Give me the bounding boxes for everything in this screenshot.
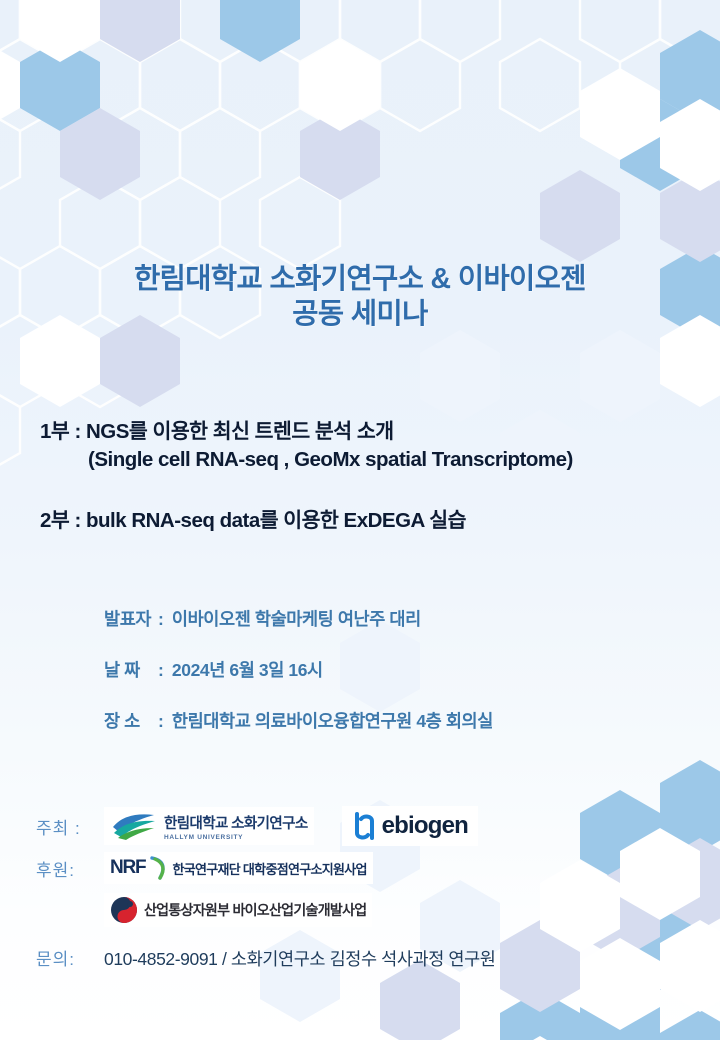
nrf-logo: NRF 한국연구재단 대학중점연구소지원사업 [104,852,373,884]
detail-row-presenter: 발표자: 이바이오젠 학술마케팅 여난주 대리 [104,606,493,631]
seminar-poster: 한림대학교 소화기연구소 & 이바이오젠 공동 세미나 1부 : NGS를 이용… [0,0,720,1040]
contact-label: 문의: [36,945,104,970]
ebiogen-wordmark: ebiogen [382,812,468,840]
host-label: 주최 : [36,814,104,839]
detail-sep-venue: : [158,711,167,731]
program-item-1-title: 1부 : NGS를 이용한 최신 트렌드 분석 소개 [40,418,712,446]
ebiogen-mark-icon [352,811,378,841]
hallym-text-block: 한림대학교 소화기연구소 HALLYM UNIVERSITY [164,812,308,841]
hallym-university-logo: 한림대학교 소화기연구소 HALLYM UNIVERSITY [104,807,314,845]
credits-block: 주최 : 한림대학교 소화기연구소 HALLYM UNIVERSITY [36,805,696,971]
program-item-2-title: 2부 : bulk RNA-seq data를 이용한 ExDEGA 실습 [40,507,712,535]
motie-program-name: 산업통상자원부 바이오산업기술개발사업 [144,900,366,920]
host-row: 주최 : 한림대학교 소화기연구소 HALLYM UNIVERSITY [36,805,696,847]
nrf-swoosh-icon [150,855,167,881]
motie-logo: 산업통상자원부 바이오산업기술개발사업 [104,893,372,927]
detail-sep-date: : [158,660,167,680]
detail-value-venue: 한림대학교 의료바이오융합연구원 4층 회의실 [172,711,493,731]
program-list: 1부 : NGS를 이용한 최신 트렌드 분석 소개 (Single cell … [40,418,712,551]
hallym-name-kr: 한림대학교 소화기연구소 [164,812,308,833]
sponsor-label: 후원: [36,856,104,881]
hallym-name-en: HALLYM UNIVERSITY [164,834,308,841]
contact-row: 문의: 010-4852-9091 / 소화기연구소 김정수 석사과정 연구원 [36,945,696,971]
nrf-wordmark: NRF [110,857,145,879]
contact-value: 010-4852-9091 / 소화기연구소 김정수 석사과정 연구원 [104,946,496,971]
hallym-wave-icon [110,810,158,842]
title-line-2: 공동 세미나 [0,297,720,332]
detail-value-presenter: 이바이오젠 학술마케팅 여난주 대리 [172,609,421,629]
detail-row-date: 날 짜: 2024년 6월 3일 16시 [104,657,493,682]
sponsor-row-nrf: 후원: NRF 한국연구재단 대학중점연구소지원사업 [36,847,696,889]
taegeuk-emblem-icon [110,896,138,924]
program-item-2: 2부 : bulk RNA-seq data를 이용한 ExDEGA 실습 [40,507,712,535]
title-line-1: 한림대학교 소화기연구소 & 이바이오젠 [0,262,720,297]
ebiogen-logo: ebiogen [342,806,478,846]
program-item-1: 1부 : NGS를 이용한 최신 트렌드 분석 소개 (Single cell … [40,418,712,473]
detail-row-venue: 장 소: 한림대학교 의료바이오융합연구원 4층 회의실 [104,708,493,733]
sponsor-row-motie: 산업통상자원부 바이오산업기술개발사업 [36,889,696,931]
event-details: 발표자: 이바이오젠 학술마케팅 여난주 대리 날 짜: 2024년 6월 3일… [104,606,493,759]
program-item-1-subtitle: (Single cell RNA-seq , GeoMx spatial Tra… [40,446,712,474]
detail-label-date: 날 짜 [104,657,158,682]
detail-label-presenter: 발표자 [104,606,158,631]
detail-value-date: 2024년 6월 3일 16시 [172,660,323,680]
detail-label-venue: 장 소 [104,708,158,733]
poster-title: 한림대학교 소화기연구소 & 이바이오젠 공동 세미나 [0,262,720,332]
detail-sep-presenter: : [158,609,167,629]
nrf-program-name: 한국연구재단 대학중점연구소지원사업 [172,859,366,878]
